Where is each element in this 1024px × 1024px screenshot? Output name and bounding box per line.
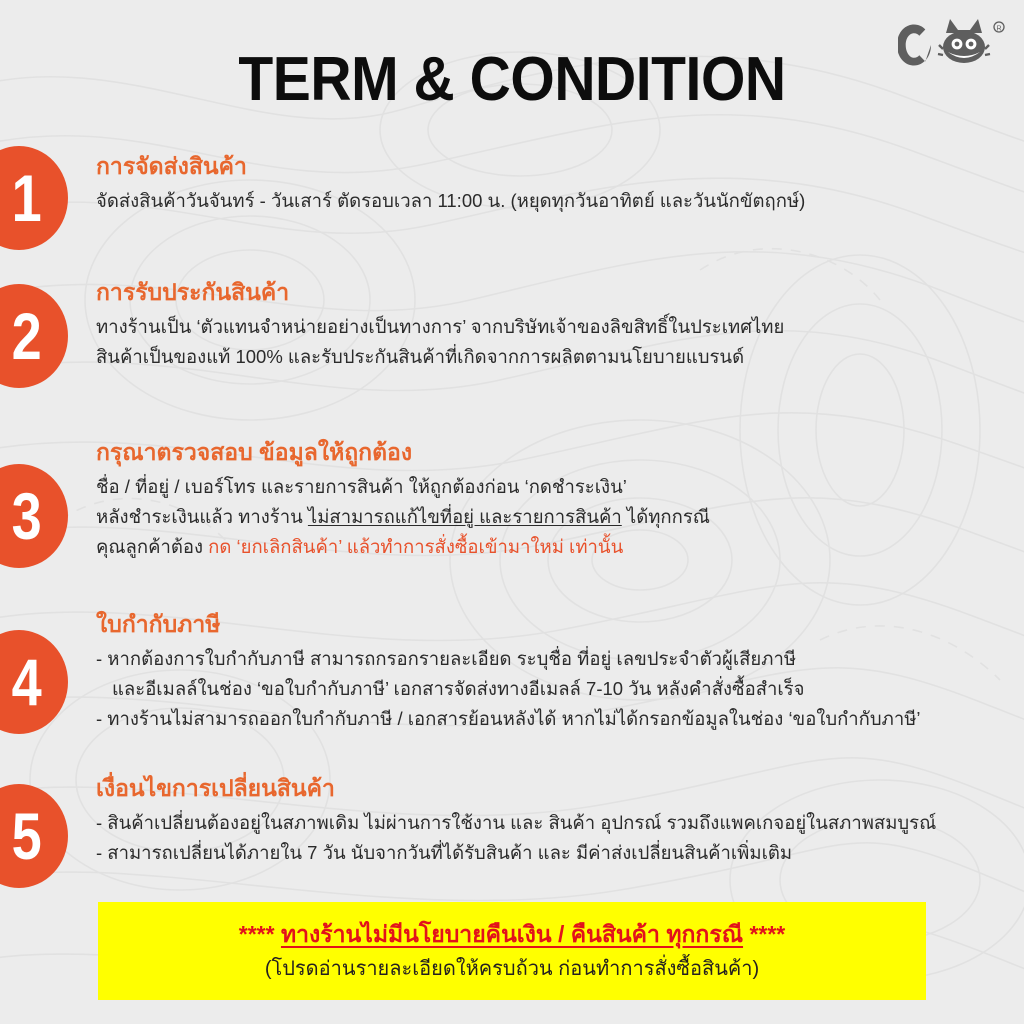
section-body-2: การรับประกันสินค้า ทางร้านเป็น ‘ตัวแทนจำ… — [96, 278, 996, 372]
line-prefix: หลังชำระเงินแล้ว ทางร้าน — [96, 506, 308, 527]
section-line: และอีเมลล์ในช่อง ‘ขอใบกำกับภาษี’ เอกสารจ… — [96, 674, 996, 704]
section-number-4: 4 — [11, 649, 41, 715]
notice-sub-text: (โปรดอ่านรายละเอียดให้ครบถ้วน ก่อนทำการส… — [265, 957, 759, 981]
notice-asterisks-left: **** — [239, 921, 275, 947]
section-line: - สินค้าเปลี่ยนต้องอยู่ในสภาพเดิม ไม่ผ่า… — [96, 808, 996, 838]
section-line: หลังชำระเงินแล้ว ทางร้าน ไม่สามารถแก้ไขท… — [96, 502, 996, 532]
section-line: ชื่อ / ที่อยู่ / เบอร์โทร และรายการสินค้… — [96, 472, 996, 502]
logo-trademark-icon: R — [994, 22, 1004, 32]
notice-main-text: **** ทางร้านไม่มีนโยบายคืนเงิน / คืนสินค… — [239, 921, 786, 949]
section-number-badge-1: 1 — [0, 146, 68, 250]
svg-text:R: R — [996, 25, 1001, 32]
section-line: ทางร้านเป็น ‘ตัวแทนจำหน่ายอย่างเป็นทางกา… — [96, 312, 996, 342]
notice-headline: ทางร้านไม่มีนโยบายคืนเงิน / คืนสินค้า ทุ… — [281, 921, 743, 947]
section-line: - สามารถเปลี่ยนได้ภายใน 7 วัน นับจากวันท… — [96, 838, 996, 868]
section-number-badge-4: 4 — [0, 630, 68, 734]
section-number-3: 3 — [11, 483, 41, 549]
section-heading-4: ใบกำกับภาษี — [96, 610, 996, 639]
notice-asterisks-right: **** — [749, 921, 785, 947]
section-line: - หากต้องการใบกำกับภาษี สามารถกรอกรายละเ… — [96, 644, 996, 674]
section-body-3: กรุณาตรวจสอบ ข้อมูลให้ถูกต้อง ชื่อ / ที่… — [96, 438, 996, 562]
line-underlined-text: ไม่สามารถแก้ไขที่อยู่ และรายการสินค้า — [308, 506, 622, 527]
section-number-5: 5 — [11, 803, 41, 869]
section-line: จัดส่งสินค้าวันจันทร์ - วันเสาร์ ตัดรอบเ… — [96, 186, 996, 216]
section-line: คุณลูกค้าต้อง กด ‘ยกเลิกสินค้า’ แล้วทำกา… — [96, 532, 996, 562]
section-line: สินค้าเป็นของแท้ 100% และรับประกันสินค้า… — [96, 342, 996, 372]
section-number-badge-3: 3 — [0, 464, 68, 568]
section-number-2: 2 — [11, 303, 41, 369]
section-body-5: เงื่อนไขการเปลี่ยนสินค้า - สินค้าเปลี่ยน… — [96, 774, 996, 868]
section-heading-1: การจัดส่งสินค้า — [96, 152, 996, 181]
line-suffix: ได้ทุกกรณี — [622, 506, 710, 527]
page-title: TERM & CONDITION — [41, 44, 983, 115]
poster-root: R TERM & CONDITION 1 การจัดส่งสินค้า จัด… — [0, 0, 1024, 1024]
section-body-4: ใบกำกับภาษี - หากต้องการใบกำกับภาษี สามา… — [96, 610, 996, 734]
section-number-badge-2: 2 — [0, 284, 68, 388]
refund-policy-notice: **** ทางร้านไม่มีนโยบายคืนเงิน / คืนสินค… — [98, 902, 926, 1000]
section-line: - ทางร้านไม่สามารถออกใบกำกับภาษี / เอกสา… — [96, 704, 996, 734]
section-body-1: การจัดส่งสินค้า จัดส่งสินค้าวันจันทร์ - … — [96, 152, 996, 216]
section-heading-3: กรุณาตรวจสอบ ข้อมูลให้ถูกต้อง — [96, 438, 996, 467]
section-heading-2: การรับประกันสินค้า — [96, 278, 996, 307]
section-heading-5: เงื่อนไขการเปลี่ยนสินค้า — [96, 774, 996, 803]
line-accent-text: กด ‘ยกเลิกสินค้า’ แล้วทำการสั่งซื้อเข้าม… — [208, 536, 623, 557]
section-number-badge-5: 5 — [0, 784, 68, 888]
line-prefix: คุณลูกค้าต้อง — [96, 536, 208, 557]
section-number-1: 1 — [11, 165, 41, 231]
